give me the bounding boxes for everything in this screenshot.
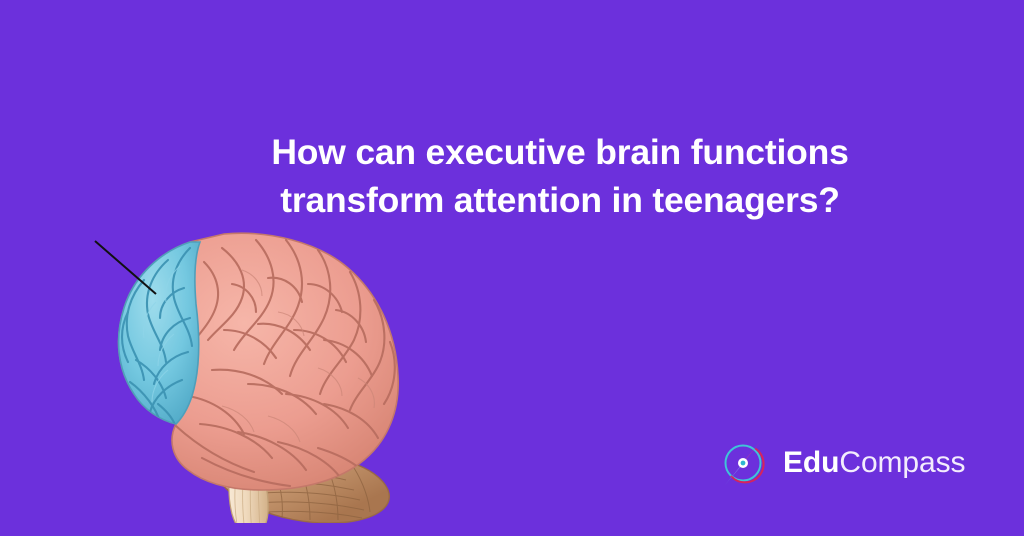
brand-name: EduCompass: [783, 448, 965, 478]
promo-banner: How can executive brain functions transf…: [0, 0, 1024, 536]
frontal-lobe-pointer-line: [95, 241, 156, 294]
brand-logo[interactable]: EduCompass: [716, 434, 965, 492]
brand-name-edu: Edu: [783, 446, 839, 479]
brain-region-frontal-lobe: [119, 242, 200, 428]
brand-name-compass: Compass: [839, 446, 965, 479]
brain-illustration: [72, 218, 412, 523]
compass-icon: [716, 435, 772, 491]
page-title: How can executive brain functions transf…: [190, 128, 930, 224]
compass-icon-svg: [716, 435, 772, 491]
brain-illustration-svg: [72, 218, 412, 523]
